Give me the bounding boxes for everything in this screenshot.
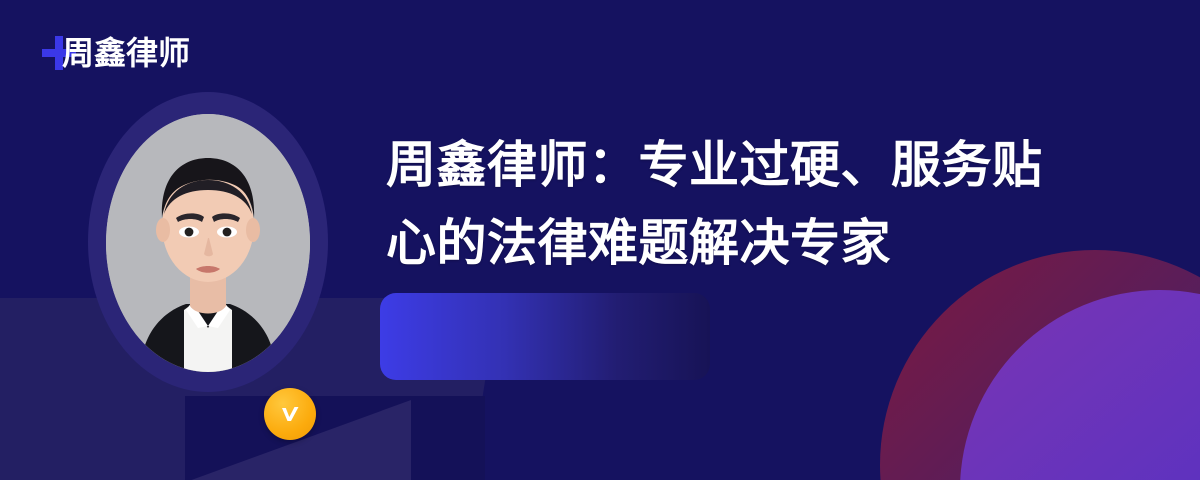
avatar[interactable] [88,92,328,392]
verified-badge-icon [264,388,316,440]
promo-card: 周鑫律师 周鑫律师：专业过硬、服务贴心的法律难题解决专家 [0,0,1200,480]
author-name-pill[interactable] [380,293,710,380]
verified-check-glyph [275,399,305,429]
author-name-label: 周鑫律师 [62,28,190,74]
portrait-illustration [106,114,310,372]
avatar-photo [106,114,310,372]
page-title: 周鑫律师：专业过硬、服务贴心的法律难题解决专家 [386,126,1086,282]
